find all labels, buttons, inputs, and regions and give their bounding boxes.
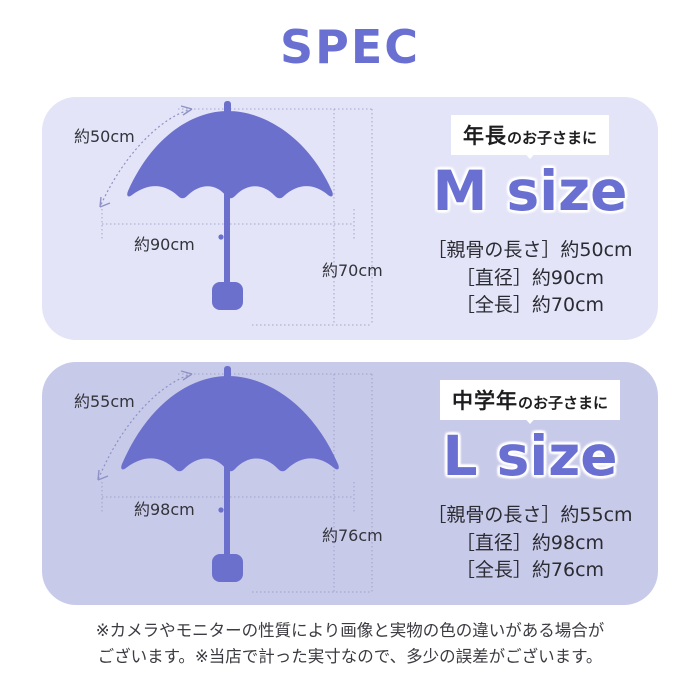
spec-line: ［全長］約76cm bbox=[402, 557, 658, 585]
badge-tail-icon bbox=[520, 413, 540, 424]
spec-panel-m: 年長のお子さまに M size ［親骨の長さ］約50cm ［直径］約90cm ［… bbox=[402, 97, 658, 340]
diameter-label: 約90cm bbox=[134, 231, 195, 255]
page-title: SPEC bbox=[0, 20, 700, 74]
spec-list-m: ［親骨の長さ］約50cm ［直径］約90cm ［全長］約70cm bbox=[402, 237, 658, 320]
disclaimer-line-1: ※カメラやモニターの性質により画像と実物の色の違いがある場合が bbox=[0, 618, 700, 644]
size-heading-l: L size bbox=[402, 424, 658, 488]
umbrella-shape bbox=[127, 101, 333, 310]
diameter-label: 約98cm bbox=[134, 496, 195, 520]
spec-line: ［親骨の長さ］約55cm bbox=[402, 502, 658, 530]
size-heading-m: M size bbox=[402, 159, 658, 223]
badge-secondary-text: のお子さまに bbox=[507, 129, 597, 147]
total-length-label: 約70cm bbox=[322, 257, 383, 281]
disclaimer-note: ※カメラやモニターの性質により画像と実物の色の違いがある場合が ございます。※当… bbox=[0, 618, 700, 669]
spec-line: ［全長］約70cm bbox=[402, 292, 658, 320]
rib-length-label: 約55cm bbox=[74, 388, 135, 412]
spec-line: ［親骨の長さ］約50cm bbox=[402, 237, 658, 265]
rib-length-label: 約50cm bbox=[74, 123, 135, 147]
spec-line: ［直径］約90cm bbox=[402, 265, 658, 293]
spec-card-m: 約50cm 約90cm 約70cm 年長のお子さまに M size ［親骨の長さ… bbox=[42, 97, 658, 340]
badge-primary-text: 年長 bbox=[463, 124, 507, 148]
badge-secondary-text: のお子さまに bbox=[518, 394, 608, 412]
badge-primary-text: 中学年 bbox=[452, 389, 518, 413]
spec-page: SPEC bbox=[0, 0, 700, 700]
spec-list-l: ［親骨の長さ］約55cm ［直径］約98cm ［全長］約76cm bbox=[402, 502, 658, 585]
spec-line: ［直径］約98cm bbox=[402, 530, 658, 558]
umbrella-diagram-m: 約50cm 約90cm 約70cm bbox=[42, 97, 402, 340]
spec-card-l: 約55cm 約98cm 約76cm 中学年のお子さまに L size ［親骨の長… bbox=[42, 362, 658, 605]
spec-panel-l: 中学年のお子さまに L size ［親骨の長さ］約55cm ［直径］約98cm … bbox=[402, 362, 658, 605]
umbrella-shape bbox=[121, 366, 339, 582]
umbrella-diagram-l: 約55cm 約98cm 約76cm bbox=[42, 362, 402, 605]
badge-tail-icon bbox=[520, 148, 540, 159]
total-length-label: 約76cm bbox=[322, 522, 383, 546]
disclaimer-line-2: ございます。※当店で計った実寸なので、多少の誤差がございます。 bbox=[0, 644, 700, 670]
